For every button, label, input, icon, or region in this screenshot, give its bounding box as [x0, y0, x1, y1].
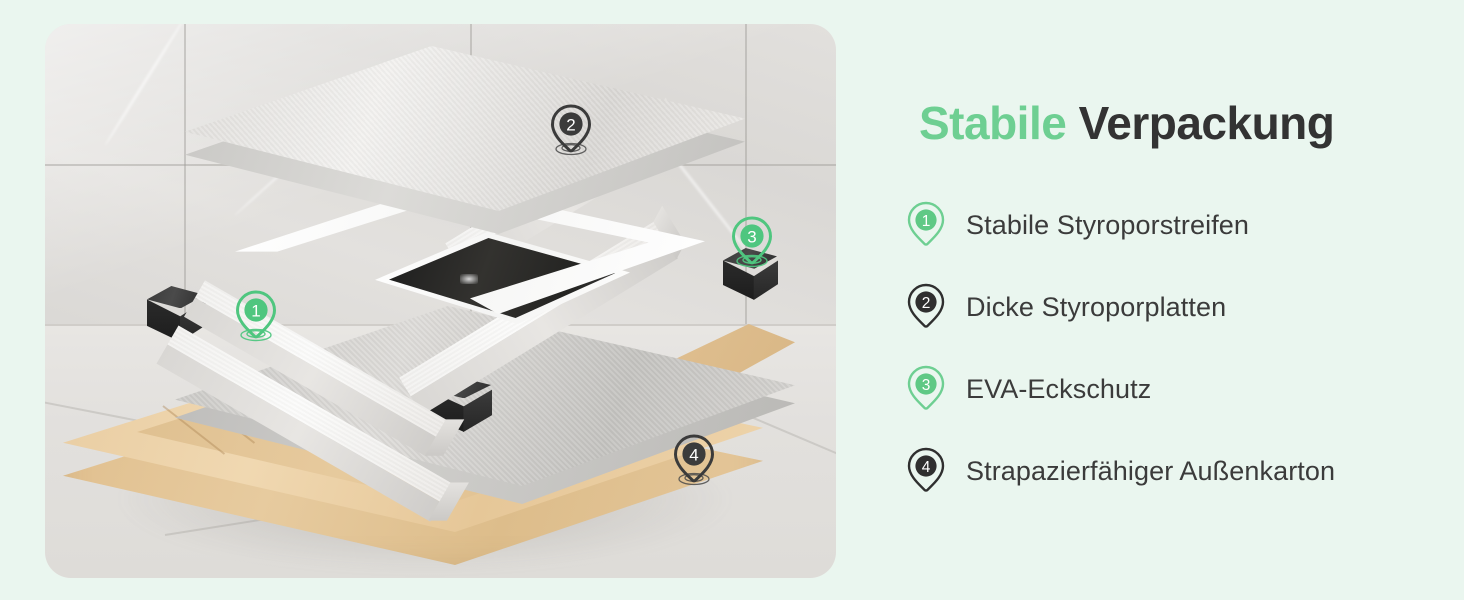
product-scene-image: 2 3 1: [45, 24, 836, 578]
promo-banner: 2 3 1: [0, 0, 1464, 600]
feature-label: Dicke Styroporplatten: [966, 292, 1226, 323]
title-rest: Verpackung: [1079, 97, 1335, 149]
svg-text:1: 1: [251, 302, 260, 321]
scene-canvas: 2 3 1: [45, 24, 836, 578]
map-pin-icon-4: 4: [905, 446, 947, 498]
mirror-brand-logo: [460, 274, 478, 284]
title-highlight: Stabile: [919, 97, 1066, 149]
svg-text:2: 2: [566, 116, 575, 135]
svg-text:2: 2: [922, 295, 931, 312]
map-pin-icon-1: 1: [905, 200, 947, 252]
scene-marker-4[interactable]: 4: [671, 432, 717, 490]
svg-text:3: 3: [747, 228, 756, 247]
feature-label: EVA-Eckschutz: [966, 374, 1151, 405]
feature-label: Strapazierfähiger Außenkarton: [966, 456, 1335, 487]
list-item[interactable]: 4 Strapazierfähiger Außenkarton: [905, 431, 1425, 513]
feature-list: 1 Stabile Styroporstreifen 2 Dicke Styro…: [905, 185, 1425, 513]
svg-text:1: 1: [922, 213, 931, 230]
feature-label: Stabile Styroporstreifen: [966, 210, 1249, 241]
marble-vein: [104, 24, 186, 146]
scene-marker-2[interactable]: 2: [548, 102, 594, 160]
page-title: Stabile Verpackung: [919, 98, 1425, 149]
list-item[interactable]: 2 Dicke Styroporplatten: [905, 267, 1425, 349]
scene-marker-3[interactable]: 3: [729, 214, 775, 272]
svg-text:3: 3: [922, 377, 931, 394]
map-pin-icon-3: 3: [905, 364, 947, 416]
scene-marker-1[interactable]: 1: [233, 288, 279, 346]
list-item[interactable]: 3 EVA-Eckschutz: [905, 349, 1425, 431]
list-item[interactable]: 1 Stabile Styroporstreifen: [905, 185, 1425, 267]
map-pin-icon-2: 2: [905, 282, 947, 334]
info-column: Stabile Verpackung 1 Stabile Styroporstr…: [905, 98, 1425, 513]
wall-grout-line: [745, 24, 747, 354]
svg-text:4: 4: [922, 459, 931, 476]
svg-text:4: 4: [689, 446, 698, 465]
